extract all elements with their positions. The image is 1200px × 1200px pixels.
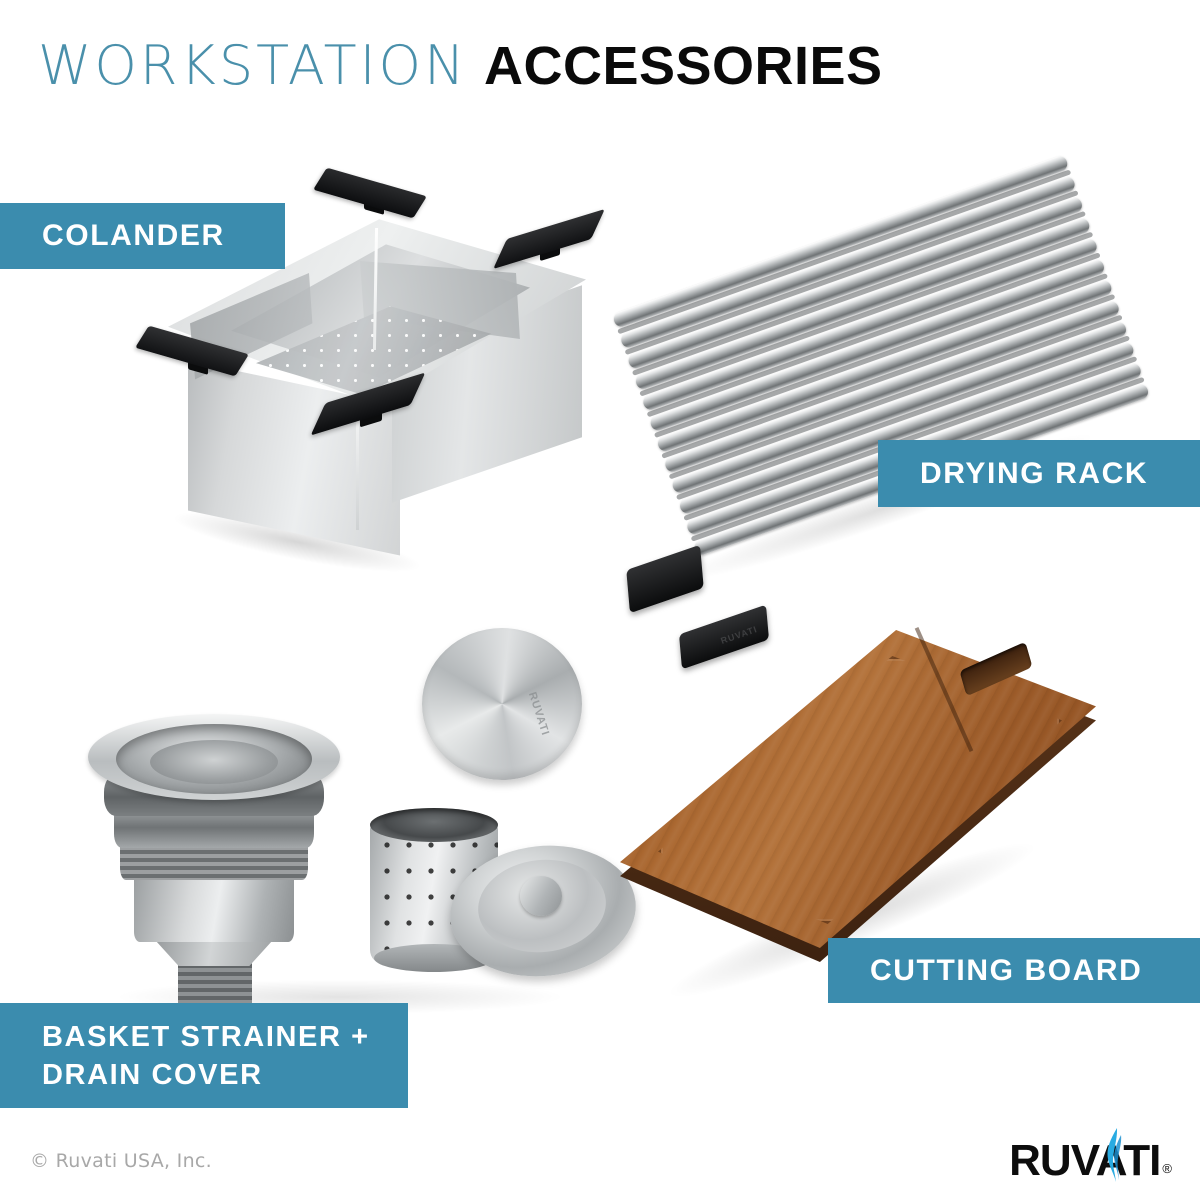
infographic-canvas: WORKSTATION ACCESSORIES [0,0,1200,1200]
registered-trademark-icon: ® [1162,1161,1172,1176]
copyright-text: © Ruvati USA, Inc. [30,1150,212,1172]
badge-basket-strainer-label-line2: DRAIN COVER [42,1056,263,1094]
badge-drying-rack-label: DRYING RACK [920,457,1148,491]
badge-cutting-board-label: CUTTING BOARD [870,954,1142,988]
ruvati-logo-text: RUVATI [1009,1136,1160,1186]
badge-basket-strainer[interactable]: BASKET STRAINER + DRAIN COVER [0,1003,408,1108]
badge-drying-rack[interactable]: DRYING RACK [878,440,1200,507]
badge-colander[interactable]: COLANDER [0,203,285,269]
strainer-basket-lid-knob [520,876,562,916]
product-image-basket-strainer: RUVATI [80,608,590,1000]
badge-colander-label: COLANDER [42,219,225,253]
strainer-barrel [134,870,294,942]
product-image-cutting-board [612,596,1132,996]
strainer-basket-opening [370,808,498,842]
badge-cutting-board[interactable]: CUTTING BOARD [828,938,1200,1003]
colander-front-seam [356,420,359,530]
colander-tab-top-right [493,209,605,269]
badge-basket-strainer-label-line1: BASKET STRAINER + [42,1018,370,1056]
page-title-light: WORKSTATION [38,34,467,97]
drain-cover-disc [422,628,582,780]
strainer-bowl-well [150,740,278,784]
water-flame-icon [1104,1127,1126,1183]
ruvati-logo: RUVATI ® [1009,1136,1172,1186]
page-title-bold: ACCESSORIES [484,36,883,96]
page-title: WORKSTATION ACCESSORIES [38,34,883,98]
